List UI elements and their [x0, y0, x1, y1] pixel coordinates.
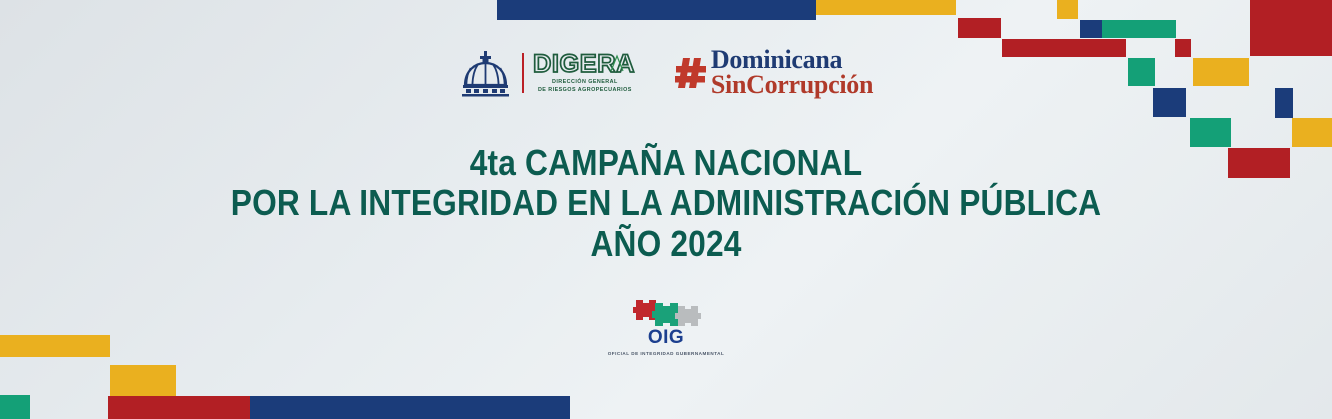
logo-row: DIGERA DIRECCIÓN GENERAL DE RIESGOS AGRO…	[0, 48, 1332, 97]
bottom-green-square	[0, 395, 30, 419]
hashtag-icon	[675, 56, 707, 90]
dominicana-sin-corrupcion-wordmark: Dominicana SinCorrupción	[711, 48, 873, 97]
title-line-2: POR LA INTEGRIDAD EN LA ADMINISTRACIÓN P…	[80, 183, 1252, 223]
title-line-3: AÑO 2024	[80, 224, 1252, 264]
top-bar-blue	[497, 0, 816, 20]
bottom-yellow-block	[110, 365, 176, 396]
dominicana-sin-corrupcion-logo: Dominicana SinCorrupción	[675, 48, 873, 97]
digera-tagline: DIRECCIÓN GENERAL DE RIESGOS AGROPECUARI…	[538, 79, 632, 95]
digera-name: DIGERA	[533, 51, 637, 77]
digera-tagline-line2: DE RIESGOS AGROPECUARIOS	[538, 87, 632, 93]
digera-wordmark: DIGERA DIRECCIÓN GENERAL DE RIESGOS AGRO…	[533, 51, 637, 95]
oig-logo: OIG OFICIAL DE INTEGRIDAD GUBERNAMENTAL	[0, 296, 1332, 356]
campaign-title: 4ta CAMPAÑA NACIONAL POR LA INTEGRIDAD E…	[0, 143, 1332, 264]
bottom-red-bar	[108, 396, 250, 419]
oig-acronym: OIG	[648, 327, 684, 349]
campaign-banner: DIGERA DIRECCIÓN GENERAL DE RIESGOS AGRO…	[0, 0, 1332, 419]
top-red-left	[958, 18, 1001, 38]
dsc-line1: Dominicana	[711, 48, 873, 73]
dsc-line2: SinCorrupción	[711, 73, 873, 98]
dominican-republic-dome-emblem-icon	[459, 49, 513, 97]
bottom-blue-bar	[250, 396, 570, 419]
digera-logo: DIGERA DIRECCIÓN GENERAL DE RIESGOS AGRO…	[459, 49, 637, 97]
digera-divider	[522, 53, 524, 93]
top-yellow-small	[1057, 0, 1078, 19]
oig-tagline: OFICIAL DE INTEGRIDAD GUBERNAMENTAL	[608, 351, 725, 356]
title-line-1: 4ta CAMPAÑA NACIONAL	[80, 143, 1252, 183]
digera-tagline-line1: DIRECCIÓN GENERAL	[552, 79, 618, 85]
top-green-bar	[1102, 20, 1176, 38]
top-blue-small	[1080, 20, 1102, 38]
top-bar-yellow	[816, 0, 956, 15]
